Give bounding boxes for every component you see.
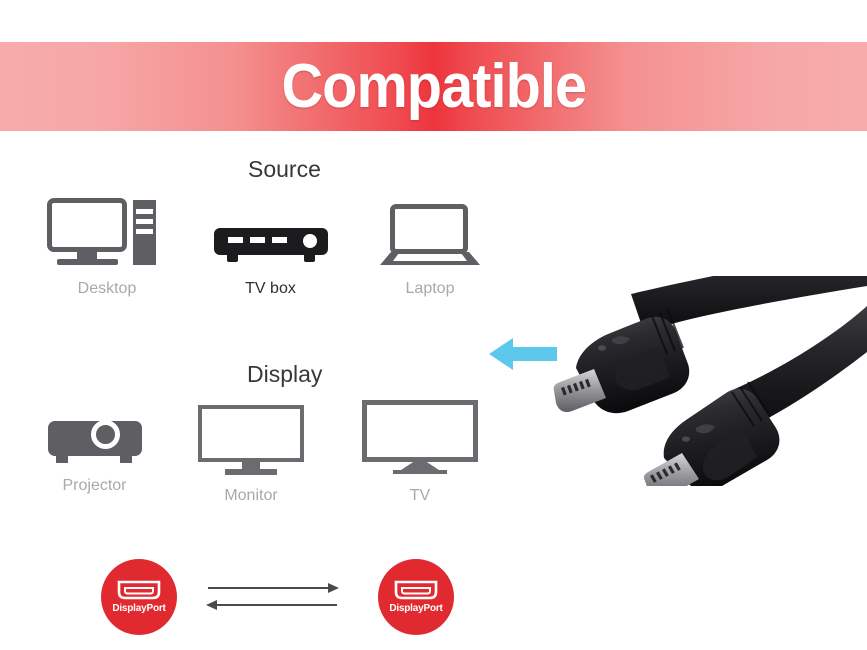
- laptop-keyboard: [393, 254, 467, 261]
- item-label-television: TV: [410, 487, 430, 505]
- projector-foot: [56, 455, 68, 463]
- banner-title: Compatible: [281, 56, 586, 118]
- desktop-computer-icon: [47, 198, 167, 270]
- desktop-screen: [47, 198, 127, 252]
- tv-box-icon-wrap: [214, 198, 328, 270]
- tv-box-slot: [250, 237, 265, 243]
- displayport-badge-right: DisplayPort: [378, 559, 454, 635]
- item-television: TV: [355, 400, 485, 505]
- tv-box-icon: [214, 198, 328, 270]
- item-tv-box: TV box: [203, 198, 338, 298]
- projector-icon-wrap: [48, 405, 142, 467]
- tower-slot: [136, 229, 153, 234]
- television-icon-wrap: [362, 400, 478, 477]
- item-label-laptop: Laptop: [406, 280, 455, 298]
- product-feature-graphic: Compatible Source Desktop: [0, 0, 867, 650]
- bidirectional-arrow-icon: [206, 580, 339, 614]
- desktop-icon-wrap: [47, 198, 167, 270]
- tower-slot: [136, 219, 153, 224]
- television-foot: [393, 470, 447, 474]
- item-monitor: Monitor: [191, 405, 311, 505]
- item-label-monitor: Monitor: [224, 487, 277, 505]
- monitor-base: [225, 469, 277, 475]
- section-heading-display: Display: [247, 361, 322, 388]
- item-label-projector: Projector: [62, 477, 126, 495]
- item-laptop: Laptop: [366, 198, 494, 298]
- tv-box-dial: [303, 234, 317, 248]
- tv-box-foot: [227, 254, 238, 262]
- monitor-icon: [198, 405, 304, 477]
- tv-box-slot: [228, 237, 243, 243]
- television-icon: [362, 400, 478, 477]
- projector-icon: [48, 405, 142, 467]
- item-label-tv-box: TV box: [245, 280, 296, 298]
- desktop-tower: [133, 200, 156, 265]
- tv-box-foot: [304, 254, 315, 262]
- television-screen: [362, 400, 478, 462]
- displayport-badge-left: DisplayPort: [101, 559, 177, 635]
- plug-highlight-front: [682, 436, 690, 441]
- tv-box-slot: [272, 237, 287, 243]
- laptop-icon-wrap: [380, 198, 480, 270]
- laptop-screen: [390, 204, 468, 254]
- plug-highlight-back: [598, 345, 606, 350]
- section-heading-source: Source: [248, 156, 321, 183]
- tower-slot: [136, 209, 153, 214]
- laptop-icon: [380, 198, 480, 270]
- displayport-connector-icon: [393, 580, 439, 600]
- monitor-screen: [198, 405, 304, 462]
- compatible-banner: Compatible: [0, 42, 867, 131]
- displayport-connector-icon: [116, 580, 162, 600]
- projector-lens: [91, 420, 120, 449]
- monitor-icon-wrap: [198, 405, 304, 477]
- projector-foot: [120, 455, 132, 463]
- displayport-cable-photo: [536, 276, 867, 486]
- item-projector: Projector: [37, 405, 152, 495]
- displayport-badge-label: DisplayPort: [112, 603, 165, 614]
- desktop-base: [57, 259, 118, 265]
- displayport-badge-label: DisplayPort: [389, 603, 442, 614]
- item-desktop: Desktop: [37, 198, 177, 298]
- item-label-desktop: Desktop: [78, 280, 137, 298]
